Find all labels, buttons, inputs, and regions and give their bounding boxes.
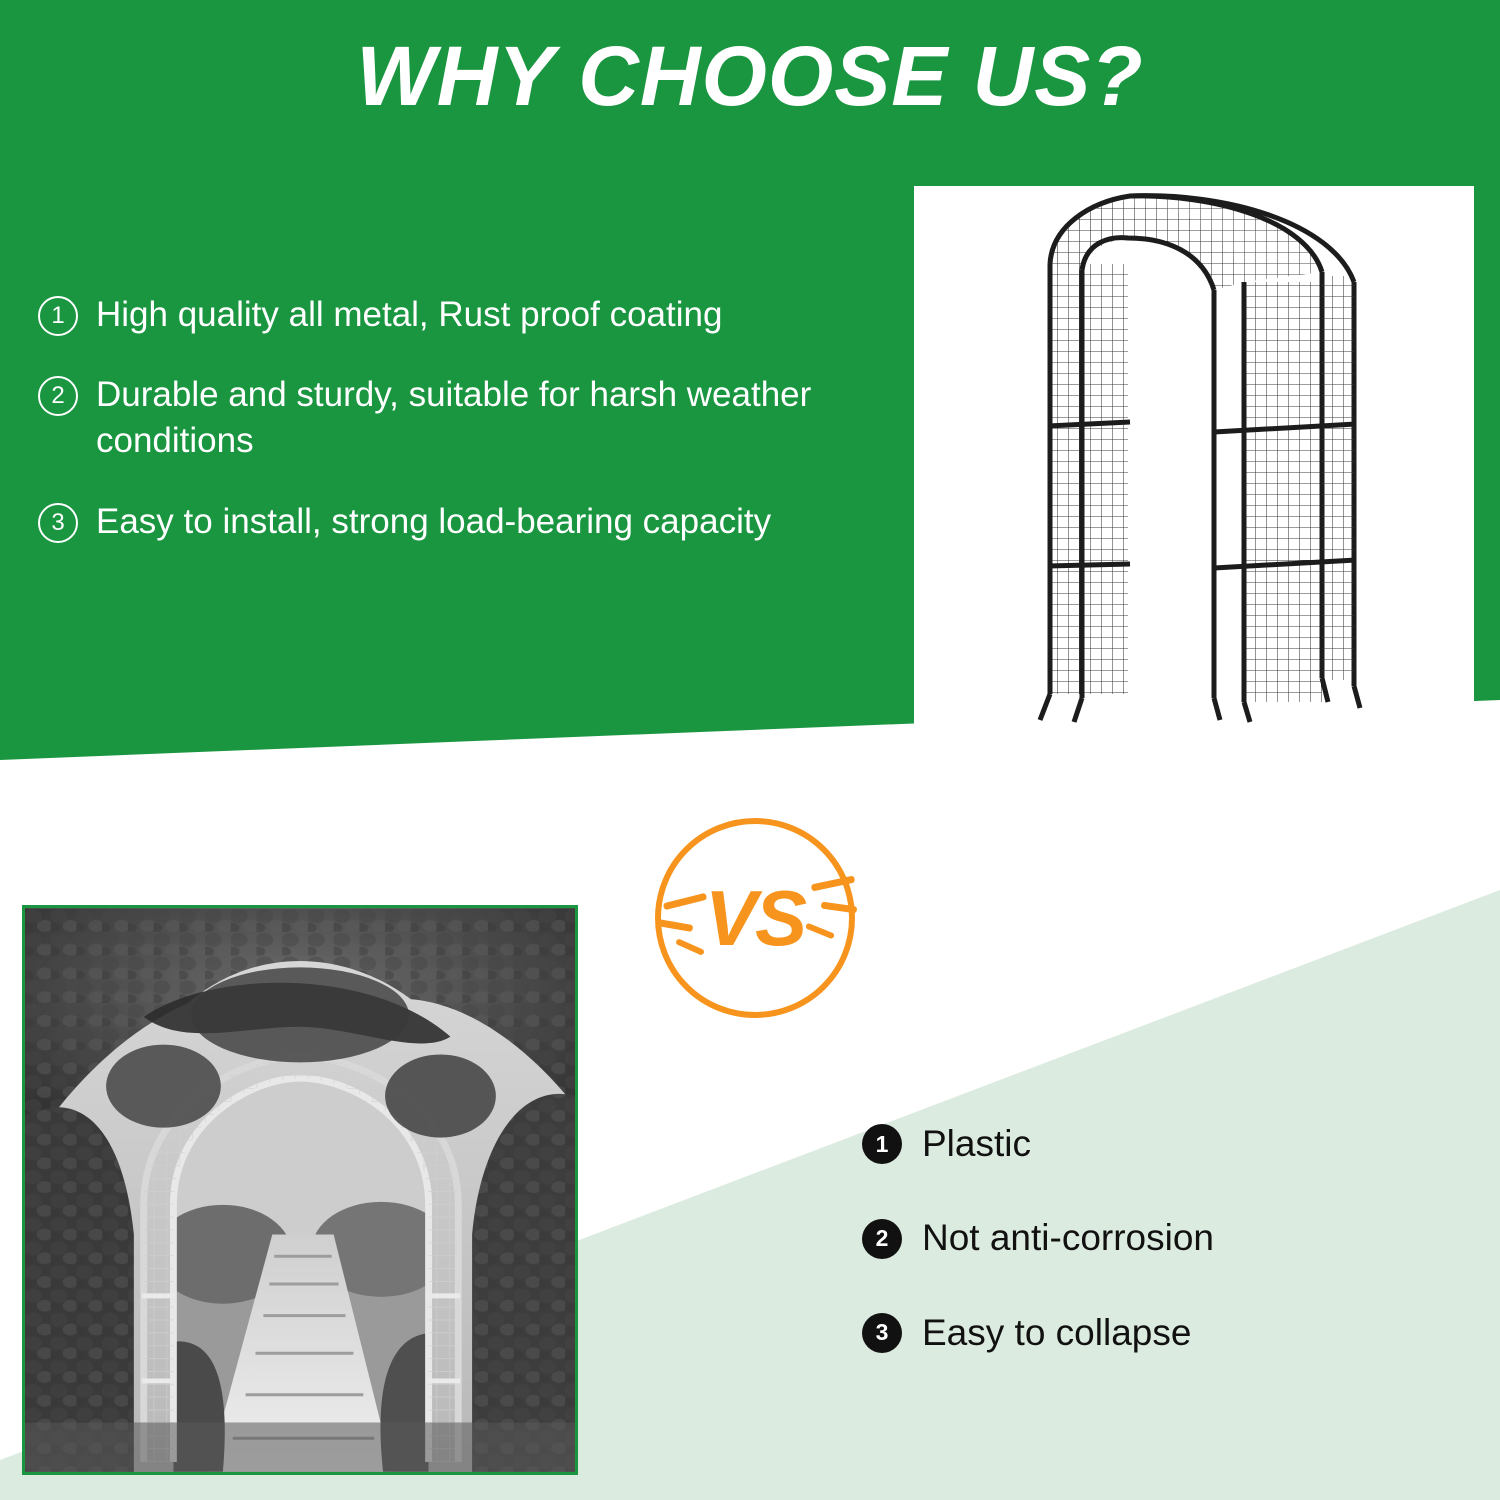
- infographic-page: WHY CHOOSE US? 1 High quality all metal,…: [0, 0, 1500, 1500]
- list-item: 1 Plastic: [862, 1122, 1462, 1166]
- pro-text: Durable and sturdy, suitable for harsh w…: [96, 372, 916, 464]
- number-badge: 2: [38, 376, 78, 416]
- list-item: 2 Not anti-corrosion: [862, 1216, 1462, 1260]
- number-badge: 3: [862, 1313, 902, 1353]
- comparison-photo: [22, 905, 578, 1475]
- garden-arch-photo-illustration: [25, 908, 575, 1472]
- con-text: Easy to collapse: [922, 1311, 1191, 1355]
- versus-badge: VS: [655, 818, 855, 1018]
- number-badge: 1: [38, 296, 78, 336]
- number-badge: 3: [38, 503, 78, 543]
- pros-list: 1 High quality all metal, Rust proof coa…: [38, 292, 918, 579]
- list-item: 2 Durable and sturdy, suitable for harsh…: [38, 372, 918, 464]
- list-item: 3 Easy to install, strong load-bearing c…: [38, 499, 918, 545]
- cons-list: 1 Plastic 2 Not anti-corrosion 3 Easy to…: [862, 1122, 1462, 1405]
- number-badge: 2: [862, 1219, 902, 1259]
- list-item: 1 High quality all metal, Rust proof coa…: [38, 292, 918, 338]
- versus-label: VS: [655, 818, 855, 1018]
- con-text: Plastic: [922, 1122, 1031, 1166]
- metal-arch-illustration: [914, 186, 1474, 732]
- page-title: WHY CHOOSE US?: [0, 28, 1500, 125]
- list-item: 3 Easy to collapse: [862, 1311, 1462, 1355]
- product-image-card: [914, 186, 1474, 732]
- con-text: Not anti-corrosion: [922, 1216, 1214, 1260]
- pro-text: High quality all metal, Rust proof coati…: [96, 292, 722, 338]
- pro-text: Easy to install, strong load-bearing cap…: [96, 499, 771, 545]
- number-badge: 1: [862, 1124, 902, 1164]
